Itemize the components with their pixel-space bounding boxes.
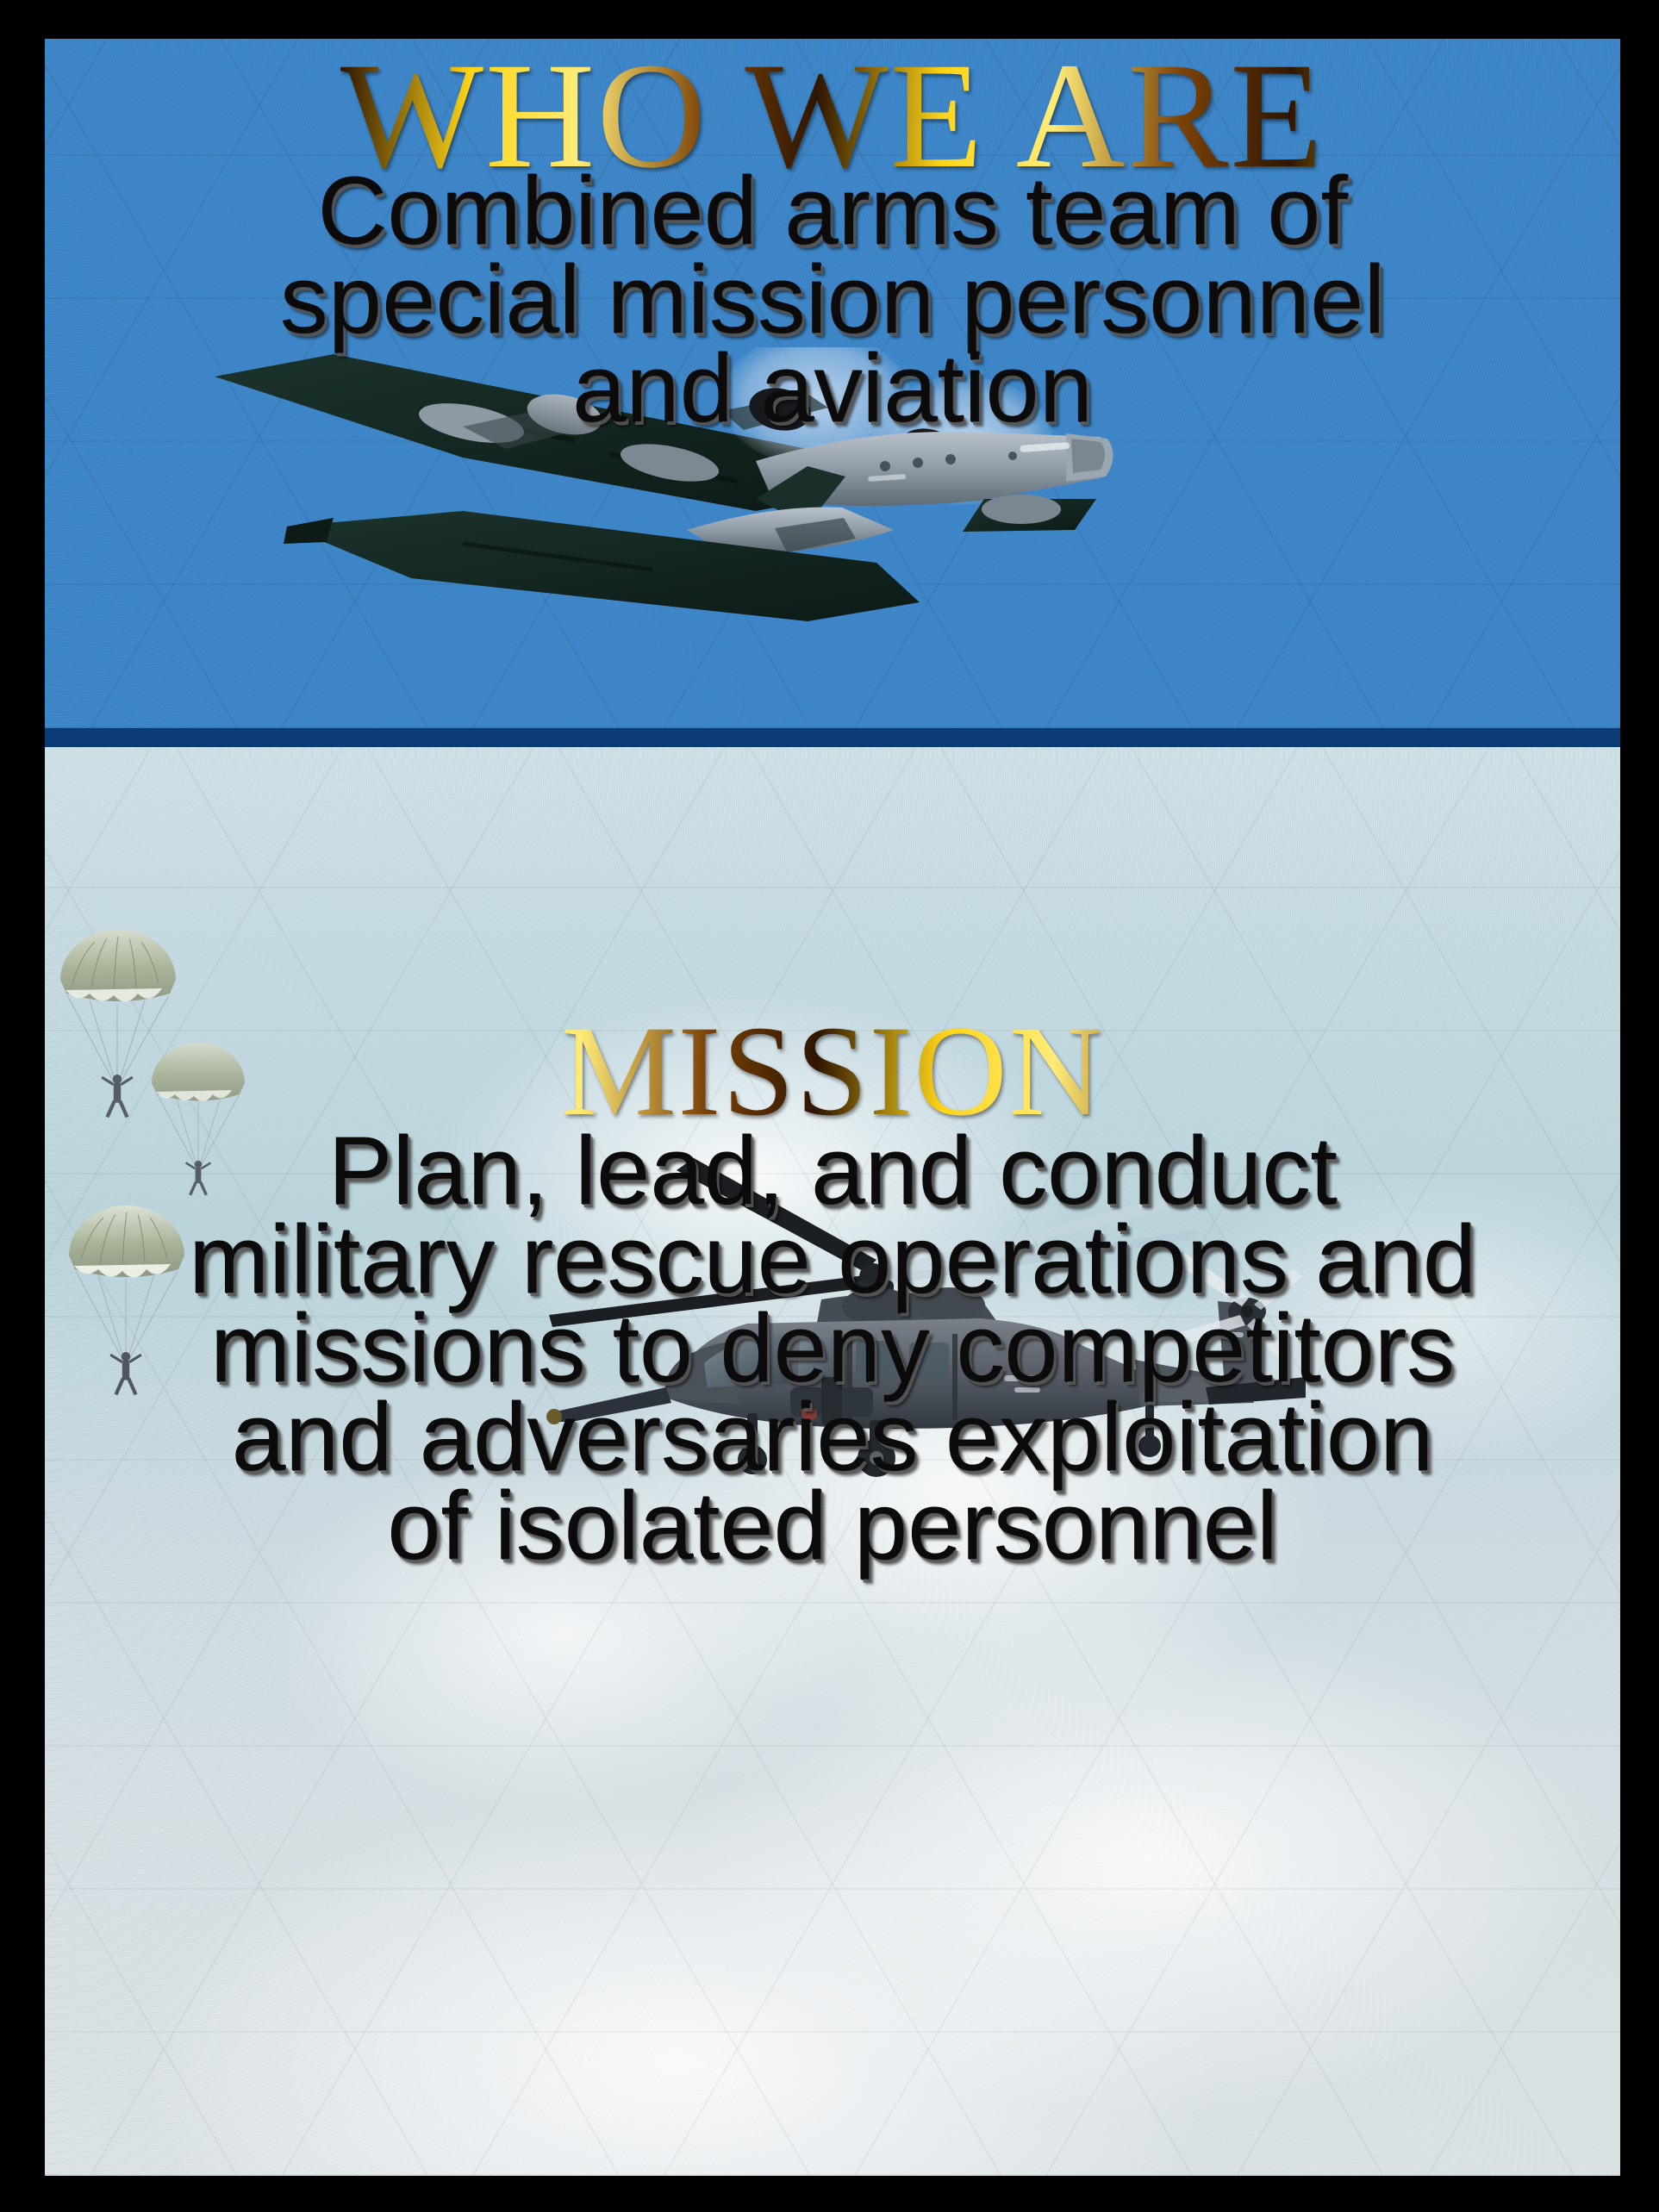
mission-line-4: and adversaries exploitation xyxy=(45,1393,1620,1481)
who-line-2: special mission personnel xyxy=(45,255,1620,344)
poster-root: WHO WE ARE Combined arms team of special… xyxy=(0,0,1659,2212)
mission-line-5: of isolated personnel xyxy=(45,1481,1620,1570)
mission-line-2: military rescue operations and xyxy=(45,1215,1620,1304)
who-line-1: Combined arms team of xyxy=(45,166,1620,255)
mission-heading: MISSION xyxy=(45,1008,1620,1135)
mission-body: Plan, lead, and conduct military rescue … xyxy=(45,1126,1620,1570)
mission-line-3: missions to deny competitors xyxy=(45,1304,1620,1393)
who-line-3: and aviation xyxy=(45,344,1620,433)
mission-line-1: Plan, lead, and conduct xyxy=(45,1126,1620,1215)
section-divider xyxy=(45,728,1620,747)
poster-canvas: WHO WE ARE Combined arms team of special… xyxy=(45,39,1620,2176)
who-we-are-body: Combined arms team of special mission pe… xyxy=(45,166,1620,433)
